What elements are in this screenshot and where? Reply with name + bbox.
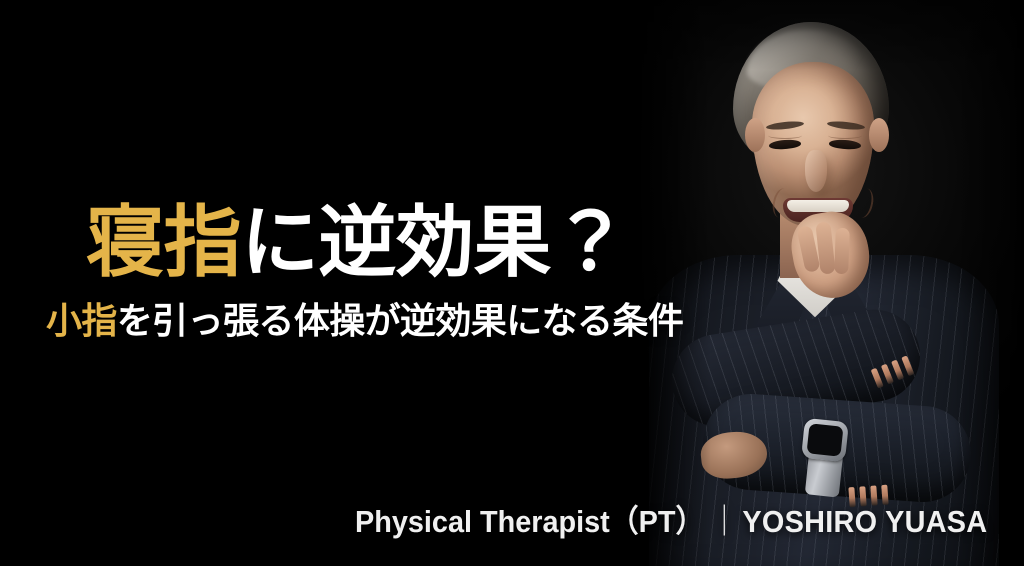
sleeve-button	[870, 485, 877, 505]
credit-separator: ｜	[710, 506, 739, 537]
sleeve-button	[881, 364, 894, 385]
headline-accent: 寝指	[86, 198, 241, 286]
sleeve-button	[881, 485, 888, 505]
sleeve-button	[891, 360, 904, 381]
subheadline-rest: を引っ張る体操が逆効果になる条件	[117, 300, 683, 341]
credit-name: YOSHIRO YUASA	[742, 504, 987, 539]
teeth	[787, 200, 849, 212]
nose	[805, 150, 827, 192]
ear-right	[869, 118, 889, 152]
credit-role: Physical Therapist（PT）	[355, 504, 704, 539]
thumbnail-canvas: 寝指に逆効果？ 小指を引っ張る体操が逆効果になる条件 Physical Ther…	[0, 0, 1024, 566]
headline: 寝指に逆効果？	[86, 203, 629, 281]
portrait-photo	[615, 0, 1024, 566]
headline-rest: に逆効果？	[241, 198, 629, 286]
credit-line: Physical Therapist（PT）｜YOSHIRO YUASA	[355, 506, 987, 537]
subheadline: 小指を引っ張る体操が逆効果になる条件	[46, 303, 683, 339]
subheadline-accent: 小指	[46, 300, 117, 341]
finger	[834, 228, 850, 274]
eye-crease-left	[768, 132, 802, 139]
smartwatch-icon	[801, 418, 849, 462]
ear-left	[745, 118, 765, 152]
eye-crease-right	[828, 132, 862, 139]
